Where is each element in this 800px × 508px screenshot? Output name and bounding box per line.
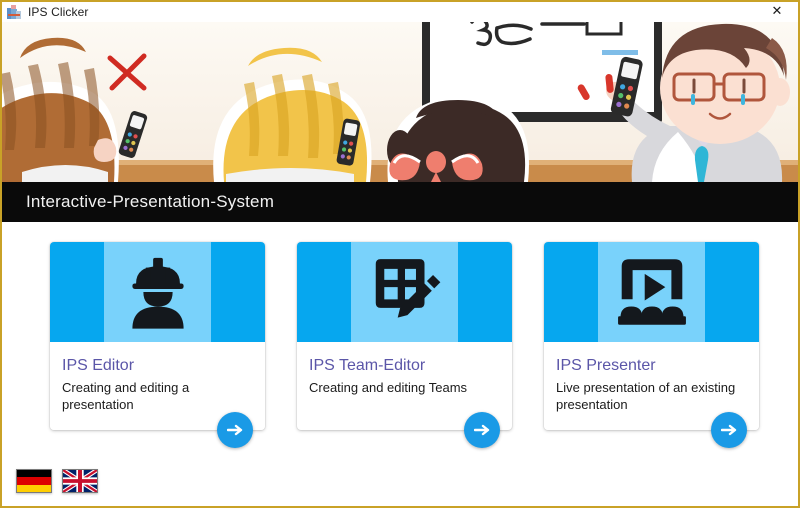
classroom-illustration [2,22,798,182]
card-ips-editor[interactable]: IPS Editor Creating and editing a presen… [50,242,265,430]
card-title: IPS Editor [62,356,251,376]
hard-hat-worker-icon [50,242,265,342]
card-ips-team-editor[interactable]: IPS Team-Editor Creating and editing Tea… [297,242,512,430]
card-ips-presenter[interactable]: IPS Presenter Live presentation of an ex… [544,242,759,430]
card-banner [50,242,265,342]
card-banner [544,242,759,342]
card-arrow-button[interactable] [217,412,253,448]
uk-flag[interactable] [62,469,98,493]
presentation-screen-audience-icon [544,242,759,342]
system-title-bar: Interactive-Presentation-System [2,182,798,222]
card-description: Creating and editing a presentation [62,379,247,414]
close-icon[interactable]: ✕ [756,2,798,22]
module-card-list: IPS Editor Creating and editing a presen… [2,242,798,430]
card-arrow-button[interactable] [711,412,747,448]
card-description: Live presentation of an existing present… [556,379,741,414]
language-selector [16,469,98,493]
card-arrow-button[interactable] [464,412,500,448]
card-banner [297,242,512,342]
table-pencil-icon [297,242,512,342]
app-window: IPS Clicker ✕ [0,0,800,508]
main-content: IPS Editor Creating and editing a presen… [2,222,798,504]
german-flag[interactable] [16,469,52,493]
card-title: IPS Presenter [556,356,745,376]
card-description: Creating and editing Teams [309,379,494,396]
card-title: IPS Team-Editor [309,356,498,376]
title-bar: IPS Clicker ✕ [2,2,798,22]
ips-clicker-icon [7,5,21,19]
page-title: Interactive-Presentation-System [26,192,274,212]
window-title: IPS Clicker [28,5,88,19]
